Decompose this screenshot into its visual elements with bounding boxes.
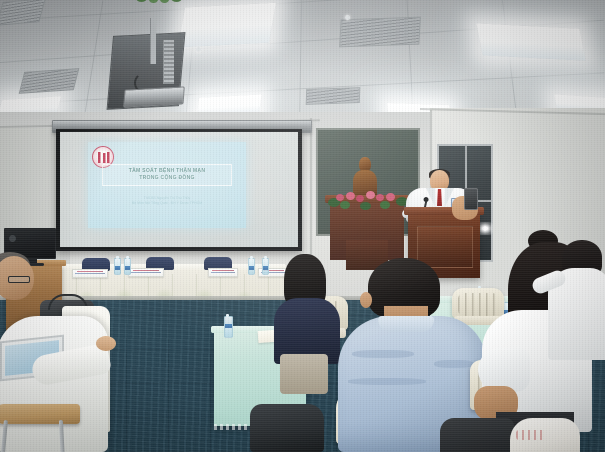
attendee-navy-blazer: [276, 254, 338, 362]
table-name-card: [128, 268, 164, 277]
ceiling-vent: [339, 17, 421, 48]
chair-writing-tablet: [0, 404, 80, 424]
wall-seam: [310, 118, 312, 268]
slide-title: TẦM SOÁT BỆNH THẬN MẠN TRONG CỘNG ĐỒNG: [105, 168, 229, 182]
screen-surface: TẦM SOÁT BỆNH THẬN MẠN TRONG CỘNG ĐỒNG T…: [60, 132, 298, 247]
projector: [123, 86, 185, 107]
eyeglasses-icon: [8, 276, 30, 283]
head-table-flowers: [136, 0, 182, 3]
ceiling-vent: [0, 0, 46, 26]
water-bottle: [114, 258, 121, 275]
mobile-phone[interactable]: [464, 188, 478, 210]
table-name-card: [72, 269, 108, 278]
slide-title-box: TẦM SOÁT BỆNH THẬN MẠN TRONG CỘNG ĐỒNG: [102, 164, 232, 186]
attendee-navy-legs: [280, 354, 328, 394]
foreground-white-object: [510, 418, 580, 452]
ceiling-vent: [19, 68, 80, 94]
monitor-logo-icon: [9, 235, 16, 242]
presentation-slide: TẦM SOÁT BỆNH THẬN MẠN TRONG CỘNG ĐỒNG T…: [88, 142, 246, 228]
ceiling-vent: [306, 87, 361, 105]
table-name-card: [208, 268, 238, 277]
ceiling-sensor-icon: [196, 47, 201, 52]
pedestal-flower-arrangement: [326, 190, 410, 212]
attendee-blue-collar: [378, 316, 434, 332]
slide-subtitle: ThS.BS Nguyễn Thị Thu Thủy Bộ Môn Nội Tổ…: [98, 196, 236, 206]
foreground-dark-object: [440, 418, 514, 452]
water-bottle: [262, 258, 269, 275]
projection-screen: TẦM SOÁT BỆNH THẬN MẠN TRONG CỘNG ĐỒNG T…: [56, 129, 302, 251]
conference-room-photo: TẦM SOÁT BỆNH THẬN MẠN TRONG CỘNG ĐỒNG T…: [0, 0, 605, 452]
projector-bracket: [163, 40, 174, 84]
attendee-far-right: [548, 240, 605, 360]
backpack: [250, 404, 324, 452]
ceiling-sensor-icon: [345, 15, 350, 20]
tablet-arm-chair[interactable]: [0, 404, 98, 452]
water-bottle: [248, 258, 255, 275]
attendee-blue-ear: [360, 292, 372, 308]
attendee-left-hand: [96, 336, 116, 351]
water-bottle: [124, 258, 131, 275]
water-bottle: [224, 316, 233, 338]
projector-rod: [150, 18, 156, 64]
ceiling-light: [178, 3, 276, 48]
ceiling-light: [476, 23, 585, 60]
